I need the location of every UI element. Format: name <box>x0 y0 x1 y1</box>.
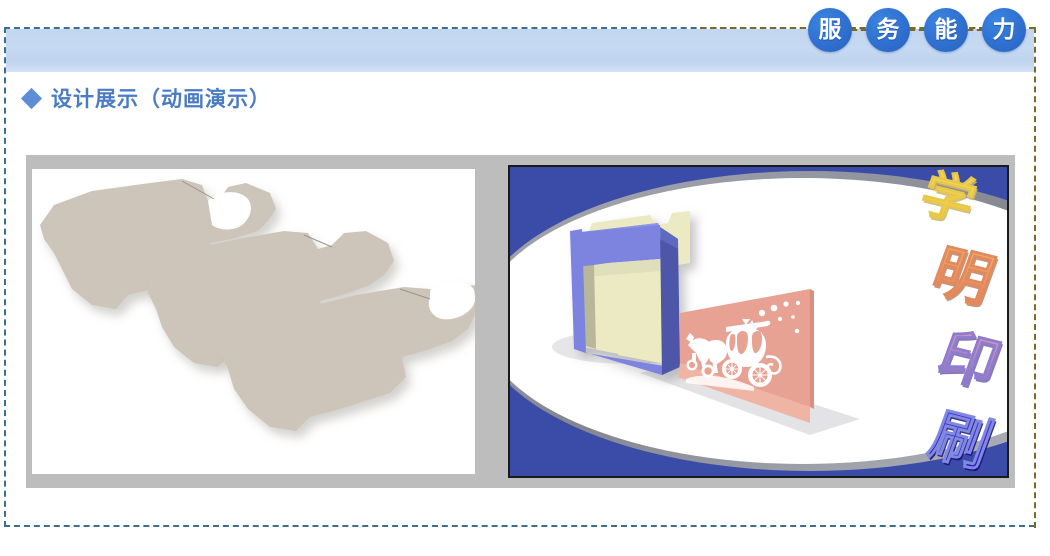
badge-fu[interactable]: 服 <box>808 8 852 52</box>
slide-dashed-border-right <box>1034 27 1036 528</box>
badge-connector-dash <box>852 29 866 31</box>
section-heading: 设计展示（动画演示） <box>24 83 271 113</box>
badge-connector-dash <box>968 29 982 31</box>
render-left-dieline[interactable] <box>32 169 475 474</box>
render-right-popup-card[interactable]: 学 学 明 明 印 印 刷 刷 <box>508 165 1009 478</box>
horse-wheel-2-inner <box>689 362 695 368</box>
badge-connector-dash <box>910 29 924 31</box>
dieline-illustration <box>32 169 475 474</box>
horse-wheel-inner <box>704 367 711 374</box>
badge-li[interactable]: 力 <box>982 8 1026 52</box>
badge-wu[interactable]: 务 <box>866 8 910 52</box>
popup-card-illustration: 学 学 明 明 印 印 刷 刷 <box>510 167 1007 476</box>
diamond-bullet-icon <box>21 87 42 108</box>
badge-neng[interactable]: 能 <box>924 8 968 52</box>
media-mount-frame: 学 学 明 明 印 印 刷 刷 <box>26 155 1015 488</box>
page-title: 设计展示（动画演示） <box>51 83 271 113</box>
service-capability-badge-group: 服 务 能 力 <box>808 6 1026 54</box>
